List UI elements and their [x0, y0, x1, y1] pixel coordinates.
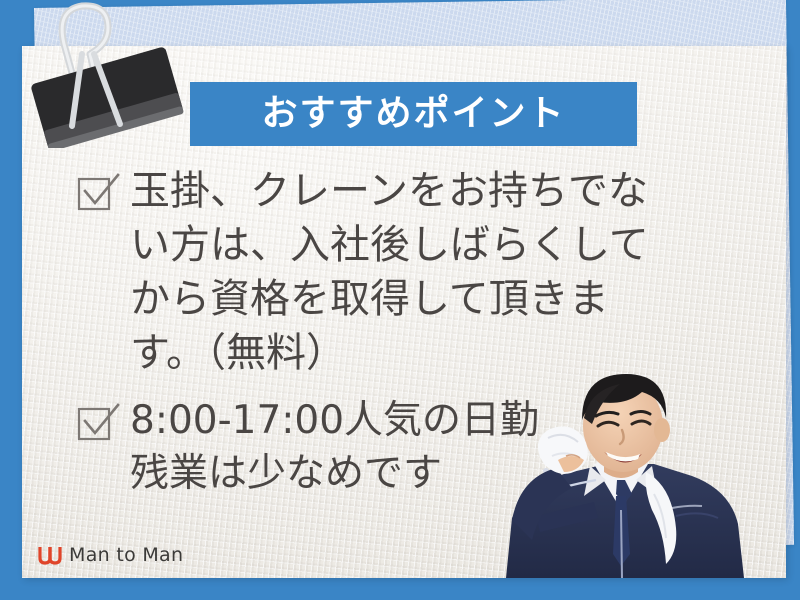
poster-canvas: おすすめポイント 玉掛、クレーンをお持ちでな い方は、入社後しばらくして から資…	[0, 0, 800, 600]
list-item-text: 玉掛、クレーンをお持ちでな い方は、入社後しばらくして から資格を取得して頂きま…	[130, 164, 649, 380]
banner-title: おすすめポイント	[261, 96, 565, 132]
brand-name: Man to Man	[69, 544, 183, 566]
checkbox-checked-icon	[76, 400, 122, 446]
worker-portrait-photo	[486, 368, 756, 578]
list-item-text: 8:00-17:00人気の日勤 残業は少なめです	[130, 394, 539, 500]
checkbox-checked-icon	[76, 170, 122, 216]
binder-clip-icon	[16, 0, 186, 148]
man-to-man-logo-mark-icon	[38, 544, 62, 566]
brand-logo: Man to Man	[38, 544, 183, 566]
recommended-points-banner: おすすめポイント	[190, 82, 637, 146]
list-item: 玉掛、クレーンをお持ちでな い方は、入社後しばらくして から資格を取得して頂きま…	[76, 164, 756, 380]
